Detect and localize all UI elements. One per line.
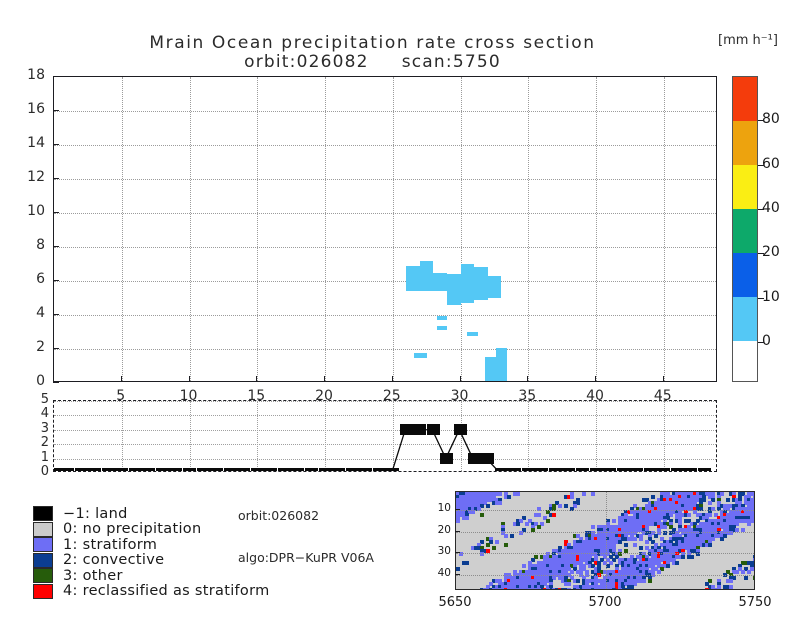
flag-marker [251, 468, 264, 473]
y-tick-mark [53, 178, 59, 179]
scene-map-pixel [642, 579, 646, 583]
legend-swatch [33, 537, 53, 552]
scene-map-pixel [708, 543, 712, 547]
scene-x-tick-label: 5750 [729, 595, 781, 610]
scene-map-pixel [618, 540, 622, 544]
scene-map-pixel [522, 564, 526, 568]
scene-map-pixel [717, 588, 721, 590]
scene-map-pixel [582, 492, 586, 496]
precip-cell [488, 276, 502, 298]
scene-y-tick-mark [455, 509, 460, 510]
scene-map-pixel [537, 513, 541, 517]
colorbar-tick-label: 20 [762, 244, 800, 260]
scene-map-pixel [591, 492, 595, 496]
colorbar-tick-mark [758, 298, 764, 299]
y-tick-mark [53, 212, 59, 213]
scene-map-pixel [495, 540, 499, 544]
precip-cell [447, 274, 461, 305]
precip-cell [474, 267, 488, 299]
flag-marker [549, 468, 562, 473]
flag-marker [53, 468, 61, 473]
scene-map-pixel [690, 555, 694, 559]
scene-x-tick-label: 5700 [579, 595, 631, 610]
scene-map-pixel [651, 495, 655, 499]
scene-map-pixel [735, 570, 739, 574]
gridline-h [54, 179, 716, 180]
scene-map-pixel [753, 576, 755, 580]
flag-marker [305, 468, 318, 473]
precip-cell [461, 264, 475, 303]
flag-marker [359, 468, 372, 473]
scene-gridline-h [456, 532, 754, 533]
page-subtitle: orbit:026082 scan:5750 [0, 52, 745, 72]
scene-map-pixel [576, 588, 580, 590]
precip-cell [467, 332, 478, 336]
scene-map-pixel [624, 549, 628, 553]
scene-map-pixel [633, 543, 637, 547]
gridline-v [325, 77, 326, 381]
scene-map-pixel [726, 498, 730, 502]
legend-label: −1: land [63, 506, 128, 522]
flag-marker [129, 468, 142, 473]
gridline-h [54, 213, 716, 214]
colorbar-tick-label: 0 [762, 333, 800, 349]
flag-marker [630, 468, 643, 473]
colorbar-tick-label: 10 [762, 289, 800, 305]
scene-map-pixel [567, 582, 571, 586]
y-tick-label: 12 [11, 169, 45, 185]
legend-label: 0: no precipitation [63, 521, 201, 537]
scene-map-pixel [486, 504, 490, 508]
scene-y-tick-label: 40 [429, 567, 451, 579]
scene-map-pixel [552, 513, 556, 517]
scene-map-pixel [612, 519, 616, 523]
colorbar-tick-mark [758, 209, 764, 210]
colorbar[interactable] [732, 76, 758, 382]
colorbar-tick-label: 80 [762, 111, 800, 127]
scene-map-pixel [624, 543, 628, 547]
scene-map-pixel [654, 534, 658, 538]
flag-marker [400, 424, 413, 435]
gridline-h [54, 145, 716, 146]
colorbar-tick-mark [758, 342, 764, 343]
flag-marker [224, 468, 237, 473]
legend-label: 1: stratiform [63, 537, 157, 553]
scene-map-pixel [570, 495, 574, 499]
scene-map-pixel [729, 579, 733, 583]
flag-marker [468, 453, 481, 464]
legend-item: 0: no precipitation [33, 522, 270, 538]
colorbar-segment-40-60 [733, 165, 757, 209]
scene-map-pixel [639, 546, 643, 550]
scene-map-pixel [504, 543, 508, 547]
scene-y-tick-mark [455, 531, 460, 532]
flag-marker [495, 468, 508, 473]
y-tick-label: 18 [11, 67, 45, 83]
colorbar-segment-zero [733, 341, 757, 381]
scene-map-pixel [675, 561, 679, 565]
gridline-v [596, 77, 597, 381]
flag-marker [156, 468, 169, 473]
precip-type-flag-plot[interactable] [53, 400, 717, 472]
y-tick-label: 4 [11, 305, 45, 321]
flag-marker [237, 468, 250, 473]
flag-marker [427, 424, 440, 435]
flag-marker [346, 468, 359, 473]
classification-legend: −1: land0: no precipitation1: stratiform… [33, 506, 270, 599]
gridline-v [461, 77, 462, 381]
gridline-h [54, 315, 716, 316]
scene-map-pixel [747, 570, 751, 574]
colorbar-segment-0-10 [733, 297, 757, 341]
colorbar-segment-gt80 [733, 77, 757, 121]
scene-map-pixel [657, 570, 661, 574]
gridline-h [54, 247, 716, 248]
scene-gridline-v [606, 492, 607, 589]
scene-map-pixel [498, 501, 502, 505]
flag-marker [115, 468, 128, 473]
y-tick-label: 14 [11, 135, 45, 151]
flag-marker [454, 424, 467, 435]
x-tick-mark [324, 376, 325, 382]
scene-map-pixel [663, 525, 667, 529]
x-tick-mark [392, 376, 393, 382]
flag-marker [386, 468, 399, 473]
scene-gridline-h [456, 553, 754, 554]
legend-swatch [33, 584, 53, 599]
page-title: Mrain Ocean precipitation rate cross sec… [0, 33, 745, 53]
scene-x-tick-label: 5650 [429, 595, 481, 610]
flag-marker [319, 468, 332, 473]
scene-map-pixel [516, 492, 520, 496]
scene-y-tick-label: 10 [429, 502, 451, 514]
flag-marker [522, 468, 535, 473]
flag-marker [332, 468, 345, 473]
gridline-v [257, 77, 258, 381]
colorbar-tick-label: 60 [762, 156, 800, 172]
scene-map-pixel [504, 534, 508, 538]
y-tick-mark [53, 144, 59, 145]
scene-map-pixel [480, 513, 484, 517]
scene-map-pixel [465, 561, 469, 565]
scene-map-pixel [525, 522, 529, 526]
legend-item: 4: reclassified as stratiform [33, 584, 270, 600]
y-tick-label: 10 [11, 203, 45, 219]
scene-map-inset[interactable] [455, 491, 755, 590]
gridline-v [190, 77, 191, 381]
colorbar-tick-mark [758, 253, 764, 254]
flag-marker [684, 468, 697, 473]
flag-marker [102, 468, 115, 473]
flag-y-tick-label: 2 [27, 435, 49, 450]
flag-marker [535, 468, 548, 473]
legend-item: 3: other [33, 568, 270, 584]
legend-item: 2: convective [33, 553, 270, 569]
colorbar-tick-mark [758, 165, 764, 166]
scene-gridline-h [456, 575, 754, 576]
scene-y-tick-mark [455, 552, 460, 553]
scene-map-pixel [486, 543, 490, 547]
flag-y-tick-label: 5 [27, 392, 49, 407]
y-tick-label: 0 [11, 373, 45, 389]
scene-map-pixel [510, 534, 514, 538]
y-tick-mark [53, 246, 59, 247]
scene-map-pixel [618, 588, 622, 590]
scene-map-pixel [582, 588, 586, 590]
precip-cell [420, 261, 434, 292]
legend-label: 2: convective [63, 552, 164, 568]
scene-map-pixel [624, 588, 628, 590]
scene-y-tick-label: 20 [429, 524, 451, 536]
scene-map-pixel [705, 588, 709, 590]
flag-marker [88, 468, 101, 473]
gridline-h [54, 349, 716, 350]
precip-cell [485, 357, 496, 382]
flag-y-tick-label: 4 [27, 406, 49, 421]
scene-map-pixel [498, 492, 502, 496]
y-tick-mark [53, 280, 59, 281]
precip-cell [496, 348, 507, 382]
scene-map-pixel [456, 519, 460, 523]
flag-marker [576, 468, 589, 473]
gridline-h [54, 111, 716, 112]
y-tick-mark [53, 348, 59, 349]
x-tick-mark [189, 376, 190, 382]
colorbar-tick-label: 40 [762, 200, 800, 216]
y-tick-label: 16 [11, 101, 45, 117]
legend-item: 1: stratiform [33, 537, 270, 553]
scene-map-pixel [564, 504, 568, 508]
scene-y-tick-mark [455, 574, 460, 575]
precip-cell [414, 353, 426, 357]
scene-map-pixel [687, 513, 691, 517]
flag-marker [440, 453, 453, 464]
scene-map-pixel [720, 537, 724, 541]
x-tick-mark [663, 376, 664, 382]
legend-swatch [33, 553, 53, 568]
gridline-v [528, 77, 529, 381]
x-tick-mark [527, 376, 528, 382]
flag-marker [75, 468, 88, 473]
legend-swatch [33, 568, 53, 583]
flag-marker [590, 468, 603, 473]
precip-cell [437, 316, 446, 320]
scene-map-pixel [486, 549, 490, 553]
flag-marker [508, 468, 521, 473]
y-tick-mark [53, 382, 59, 383]
flag-marker [644, 468, 657, 473]
scene-map-pixel [645, 540, 649, 544]
scene-map-pixel [546, 519, 550, 523]
flag-y-tick-label: 3 [27, 421, 49, 436]
colorbar-segment-20-40 [733, 209, 757, 253]
scene-map-pixel [744, 576, 748, 580]
scene-map-pixel [558, 504, 562, 508]
precip-cell [437, 326, 446, 330]
flag-marker [197, 468, 210, 473]
y-tick-mark [53, 110, 59, 111]
flag-marker [183, 468, 196, 473]
x-tick-mark [460, 376, 461, 382]
colorbar-tick-mark [758, 120, 764, 121]
scene-map-pixel [537, 588, 541, 590]
flag-marker [698, 468, 711, 473]
flag-marker [142, 468, 155, 473]
scene-map-pixel [537, 525, 541, 529]
flag-marker [413, 424, 426, 435]
colorbar-segment-60-80 [733, 121, 757, 165]
cross-section-plot[interactable] [53, 76, 717, 382]
scene-map-pixel [639, 537, 643, 541]
scene-map-pixel [708, 501, 712, 505]
legend-swatch [33, 522, 53, 537]
flag-marker [264, 468, 277, 473]
scene-map-pixel [681, 555, 685, 559]
scene-map-pixel [456, 567, 460, 571]
cross-section-gridlines [54, 77, 716, 381]
legend-label: 3: other [63, 568, 123, 584]
scene-map-pixel [591, 525, 595, 529]
flag-marker [373, 468, 386, 473]
colorbar-segment-10-20 [733, 253, 757, 297]
flag-y-tick-label: 0 [27, 464, 49, 479]
y-tick-label: 2 [11, 339, 45, 355]
scene-map-pixel [516, 522, 520, 526]
flag-marker [671, 468, 684, 473]
flag-marker [169, 468, 182, 473]
scene-map-pixel [567, 588, 571, 590]
flag-marker [562, 468, 575, 473]
flag-marker [481, 453, 494, 464]
scene-map-pixel [648, 579, 652, 583]
flag-marker [291, 468, 304, 473]
flag-marker [657, 468, 670, 473]
legend-item: −1: land [33, 506, 270, 522]
precip-cell [406, 266, 420, 292]
gridline-v [393, 77, 394, 381]
legend-swatch [33, 506, 53, 521]
gridline-h [54, 281, 716, 282]
flag-marker [278, 468, 291, 473]
flag-y-tick-label: 1 [27, 450, 49, 465]
y-tick-label: 6 [11, 271, 45, 287]
scene-map-pixel [576, 579, 580, 583]
scene-map-pixel [747, 522, 751, 526]
flag-polyline [54, 430, 702, 472]
scene-gridline-h [456, 510, 754, 511]
scene-map-pixel [741, 570, 745, 574]
scene-map-pixel [507, 495, 511, 499]
flag-marker [617, 468, 630, 473]
flag-marker [603, 468, 616, 473]
scene-map-pixel [492, 546, 496, 550]
scene-y-tick-label: 30 [429, 545, 451, 557]
gridline-v [122, 77, 123, 381]
x-tick-mark [256, 376, 257, 382]
y-tick-mark [53, 314, 59, 315]
flag-marker [210, 468, 223, 473]
flag-line [54, 401, 716, 472]
colorbar-units-label: [mm h⁻¹] [718, 33, 800, 48]
x-tick-mark [121, 376, 122, 382]
scene-map-pixel [729, 585, 733, 589]
scene-map-pixel [612, 588, 616, 590]
flag-marker [61, 468, 74, 473]
scene-map-pixel [633, 537, 637, 541]
precip-cell [433, 273, 447, 292]
scene-map-pixel [630, 585, 634, 589]
scene-map-pixel [546, 588, 550, 590]
gridline-v [664, 77, 665, 381]
scene-map-pixel [666, 564, 670, 568]
y-tick-mark [53, 76, 59, 77]
y-tick-label: 8 [11, 237, 45, 253]
x-tick-mark [595, 376, 596, 382]
legend-label: 4: reclassified as stratiform [63, 583, 270, 599]
scene-map-pixel [465, 516, 469, 520]
